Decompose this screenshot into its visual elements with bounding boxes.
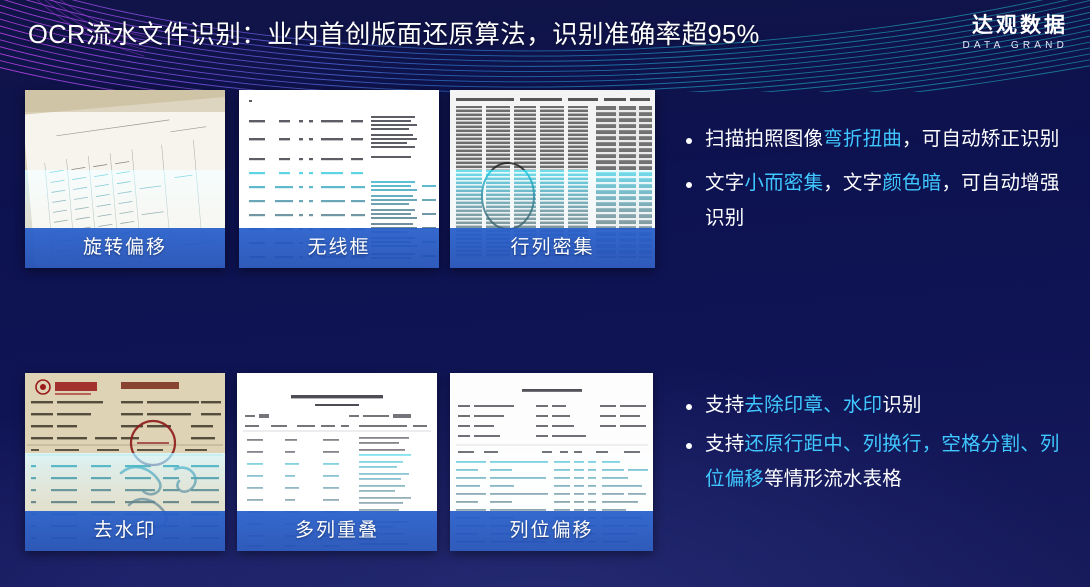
brand-name-en: DATA GRAND: [878, 38, 1068, 53]
plain-text: 识别: [882, 394, 921, 416]
plain-text: 文字: [705, 172, 744, 194]
highlighted-text: 小而密集: [744, 172, 823, 194]
slide-header: OCR流水文件识别：业内首创版面还原算法，识别准确率超95% 达观数据 DATA…: [0, 0, 1090, 78]
bullet-item: 支持还原行距中、列换行，空格分割、列位偏移等情形流水表格: [683, 427, 1075, 497]
sample-card[interactable]: 列位偏移: [450, 373, 653, 551]
page-title: OCR流水文件识别：业内首创版面还原算法，识别准确率超95%: [28, 18, 760, 52]
brand-logo: 达观数据 DATA GRAND: [878, 13, 1068, 53]
sample-caption: 列位偏移: [450, 511, 653, 551]
bullet-item: 支持去除印章、水印识别: [683, 388, 1075, 423]
plain-text: 等情形流水表格: [764, 468, 902, 490]
bullet-item: 扫描拍照图像弯折扭曲，可自动矫正识别: [683, 122, 1075, 157]
plain-text: 支持: [705, 433, 744, 455]
sample-card[interactable]: 旋转偏移: [25, 90, 225, 268]
highlighted-text: 弯折扭曲: [823, 128, 902, 150]
plain-text: ，可自动矫正识别: [902, 128, 1060, 150]
plain-text: 支持: [705, 394, 744, 416]
bullet-item: 文字小而密集，文字颜色暗，可自动增强识别: [683, 166, 1075, 236]
plain-text: ，文字: [823, 172, 882, 194]
sample-card[interactable]: 多列重叠: [237, 373, 437, 551]
sample-card[interactable]: 无线框: [239, 90, 439, 268]
highlighted-text: 颜色暗: [882, 172, 941, 194]
feature-list-bottom: 支持去除印章、水印识别 支持还原行距中、列换行，空格分割、列位偏移等情形流水表格: [683, 388, 1075, 501]
brand-name-cn: 达观数据: [878, 13, 1068, 38]
slide-canvas: OCR流水文件识别：业内首创版面还原算法，识别准确率超95% 达观数据 DATA…: [0, 0, 1090, 587]
sample-card[interactable]: 行列密集: [450, 90, 655, 268]
sample-card[interactable]: 去水印: [25, 373, 225, 551]
highlighted-text: 去除印章、水印: [744, 394, 882, 416]
plain-text: 扫描拍照图像: [705, 128, 823, 150]
sample-caption: 旋转偏移: [25, 228, 225, 268]
sample-caption: 多列重叠: [237, 511, 437, 551]
feature-list-top: 扫描拍照图像弯折扭曲，可自动矫正识别 文字小而密集，文字颜色暗，可自动增强识别: [683, 122, 1075, 245]
sample-caption: 去水印: [25, 511, 225, 551]
sample-caption: 无线框: [239, 228, 439, 268]
sample-caption: 行列密集: [450, 228, 655, 268]
